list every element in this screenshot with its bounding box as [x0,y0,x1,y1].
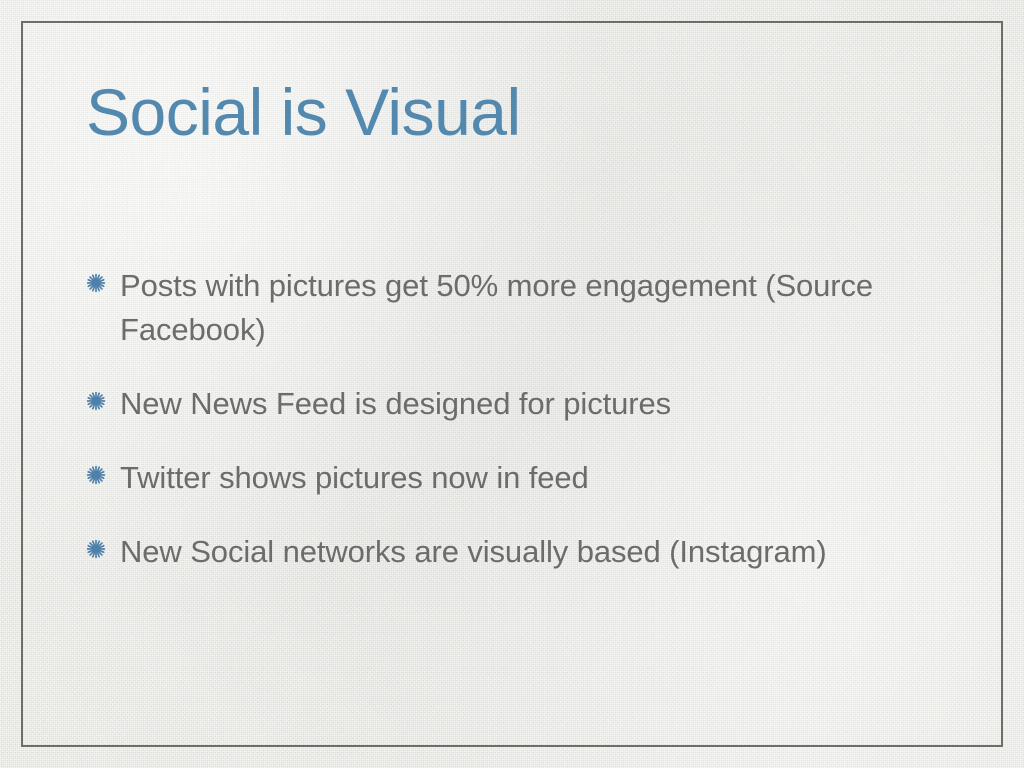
asterisk-burst-icon [86,465,120,485]
asterisk-burst-icon [86,391,120,411]
list-item: New Social networks are visually based (… [86,530,916,574]
list-item: New News Feed is designed for pictures [86,382,916,426]
list-item-label: Posts with pictures get 50% more engagem… [120,264,916,352]
list-item: Posts with pictures get 50% more engagem… [86,264,916,352]
list-item: Twitter shows pictures now in feed [86,456,916,500]
slide-canvas: Social is Visual [0,0,1024,768]
bullet-list: Posts with pictures get 50% more engagem… [86,264,916,574]
slide-title: Social is Visual [86,78,521,147]
list-item-label: New Social networks are visually based (… [120,530,916,574]
asterisk-burst-icon [86,273,120,293]
list-item-label: Twitter shows pictures now in feed [120,456,916,500]
asterisk-burst-icon [86,539,120,559]
slide-content: Social is Visual [0,0,1024,768]
list-item-label: New News Feed is designed for pictures [120,382,916,426]
